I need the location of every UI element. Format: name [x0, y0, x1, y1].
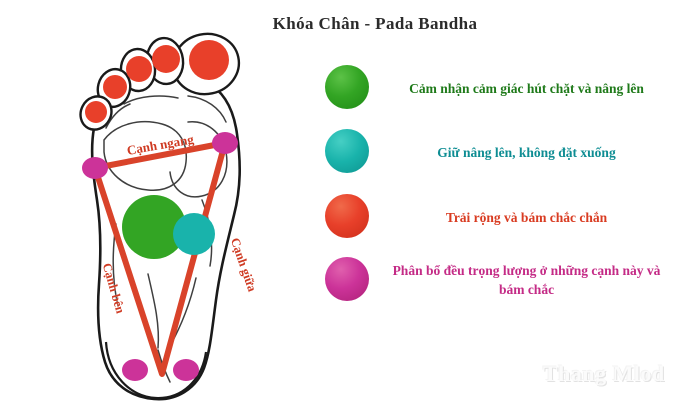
- dot-toe-little: [85, 101, 107, 123]
- dot-arch-teal: [173, 213, 215, 255]
- legend-swatch-red-circle: [325, 194, 369, 238]
- dot-heel-lateral: [122, 359, 148, 381]
- dot-ball-medial: [212, 132, 238, 154]
- legend-label-green: Cảm nhận cảm giác hút chặt và nâng lên: [384, 60, 669, 116]
- legend-item-red: Trải rộng và bám chắc chắn: [322, 189, 674, 245]
- legend-swatch-magenta-circle: [325, 257, 369, 301]
- legend-swatch-teal-circle: [325, 129, 369, 173]
- foot-diagram: Cạnh ngang Cạnh bên Cạnh giữa: [20, 12, 300, 405]
- dot-toe-third: [126, 56, 152, 82]
- infographic-canvas: Khóa Chân - Pada Bandha: [0, 0, 680, 405]
- foot-outline-svg: [20, 12, 300, 405]
- legend-label-magenta: Phân bổ đều trọng lượng ở những cạnh này…: [384, 252, 669, 308]
- legend-label-teal: Giữ nâng lên, không đặt xuống: [384, 124, 669, 180]
- dot-ball-lateral: [82, 157, 108, 179]
- legend-swatch-green-circle: [325, 65, 369, 109]
- dot-heel-medial: [173, 359, 199, 381]
- watermark: Thang Mlod: [543, 361, 665, 387]
- dot-toe-second: [152, 45, 180, 73]
- dot-toe-fourth: [103, 75, 127, 99]
- legend-item-green: Cảm nhận cảm giác hút chặt và nâng lên: [322, 60, 674, 116]
- legend-item-magenta: Phân bổ đều trọng lượng ở những cạnh này…: [322, 252, 674, 308]
- legend-item-teal: Giữ nâng lên, không đặt xuống: [322, 124, 674, 180]
- dot-toe-big: [189, 40, 229, 80]
- legend-label-red: Trải rộng và bám chắc chắn: [384, 189, 669, 245]
